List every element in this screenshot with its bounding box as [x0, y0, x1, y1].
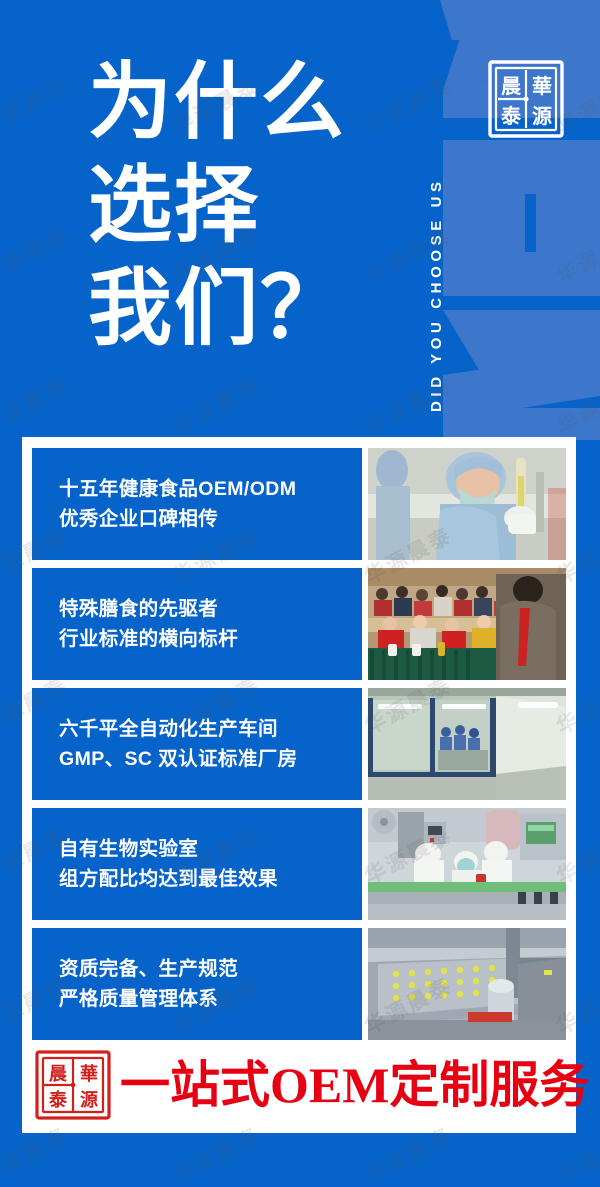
feature-card[interactable]: 特殊膳食的先驱者 行业标准的横向标杆 — [32, 568, 566, 680]
poster-header: 为什么 选择 我们？ DID YOU CHOOSE US 晨 泰 華 源 — [0, 0, 600, 437]
title-line-2: 选择 — [88, 155, 408, 258]
feature-line: 组方配比均达到最佳效果 — [59, 864, 354, 894]
svg-text:華: 華 — [80, 1063, 98, 1084]
svg-text:晨: 晨 — [49, 1064, 68, 1084]
vertical-tagline: DID YOU CHOOSE US — [425, 22, 445, 412]
feature-card-text: 自有生物实验室 组方配比均达到最佳效果 — [32, 808, 362, 920]
feature-card-list: 十五年健康食品OEM/ODM 优秀企业口碑相传 — [32, 448, 566, 1040]
company-seal-icon: 晨 泰 華 源 — [486, 57, 566, 141]
svg-text:源: 源 — [80, 1089, 98, 1110]
feature-line: 十五年健康食品OEM/ODM — [59, 474, 354, 504]
feature-card-text: 十五年健康食品OEM/ODM 优秀企业口碑相传 — [32, 448, 362, 560]
feature-line: GMP、SC 双认证标准厂房 — [59, 744, 354, 774]
company-seal-red-icon: 晨 泰 華 源 — [34, 1049, 112, 1121]
svg-text:泰: 泰 — [500, 104, 522, 128]
feature-card[interactable]: 资质完备、生产规范 严格质量管理体系 — [32, 928, 566, 1040]
feature-line: 严格质量管理体系 — [59, 984, 354, 1014]
footer-slogan-banner: 晨 泰 華 源 一站式OEM定制服务 — [32, 1048, 566, 1122]
title-line-3: 我们？ — [88, 258, 408, 361]
poster-root: 为什么 选择 我们？ DID YOU CHOOSE US 晨 泰 華 源 — [0, 0, 600, 1187]
svg-text:泰: 泰 — [48, 1089, 68, 1110]
feature-card-text: 六千平全自动化生产车间 GMP、SC 双认证标准厂房 — [32, 688, 362, 800]
feature-line: 自有生物实验室 — [59, 834, 354, 864]
svg-text:源: 源 — [532, 105, 552, 128]
page-title: 为什么 选择 我们？ — [88, 52, 408, 361]
feature-card[interactable]: 十五年健康食品OEM/ODM 优秀企业口碑相传 — [32, 448, 566, 560]
feature-line: 六千平全自动化生产车间 — [59, 714, 354, 744]
feature-card-image-packaging-line — [368, 808, 566, 920]
title-line-1: 为什么 — [88, 52, 408, 155]
feature-line: 资质完备、生产规范 — [59, 954, 354, 984]
content-panel: 十五年健康食品OEM/ODM 优秀企业口碑相传 — [22, 437, 576, 1133]
svg-text:晨: 晨 — [501, 75, 522, 98]
feature-card[interactable]: 自有生物实验室 组方配比均达到最佳效果 — [32, 808, 566, 920]
svg-text:華: 華 — [532, 75, 552, 98]
feature-line: 特殊膳食的先驱者 — [59, 594, 354, 624]
feature-card-text: 特殊膳食的先驱者 行业标准的横向标杆 — [32, 568, 362, 680]
feature-card[interactable]: 六千平全自动化生产车间 GMP、SC 双认证标准厂房 — [32, 688, 566, 800]
feature-line: 行业标准的横向标杆 — [59, 624, 354, 654]
feature-card-image-cleanroom — [368, 688, 566, 800]
feature-line: 优秀企业口碑相传 — [59, 504, 354, 534]
feature-card-image-conference — [368, 568, 566, 680]
feature-card-image-lab-technician — [368, 448, 566, 560]
footer-slogan: 一站式OEM定制服务 — [120, 1057, 589, 1113]
feature-card-text: 资质完备、生产规范 严格质量管理体系 — [32, 928, 362, 1040]
feature-card-image-blister-packer — [368, 928, 566, 1040]
